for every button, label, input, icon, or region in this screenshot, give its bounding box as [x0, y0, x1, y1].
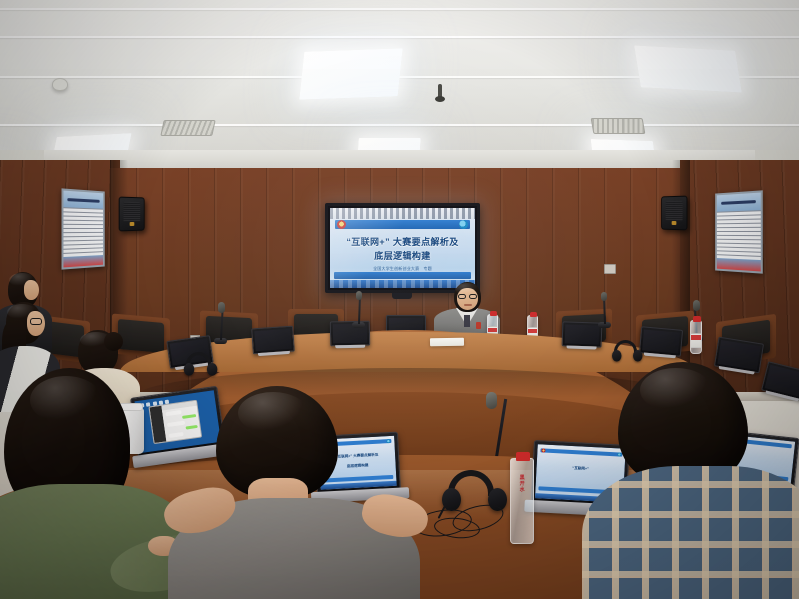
microphone-head [218, 302, 225, 313]
presenter-mouth [464, 304, 472, 306]
poster-right [715, 190, 763, 273]
smoke-detector-icon [52, 78, 68, 91]
person-hair-bun [104, 332, 123, 351]
slide-title-line1: “互联网+” 大赛要点解析及 [336, 236, 469, 248]
front-right-attendee [596, 362, 799, 599]
slide-title-line2: 底层逻辑构建 [336, 250, 469, 262]
slide-footer-bar [334, 272, 471, 279]
poster-text-body [63, 207, 103, 256]
poster-header [63, 191, 103, 209]
competition-logo-icon [459, 220, 468, 229]
presenter-glasses [458, 294, 466, 299]
sprinkler-head-icon [438, 84, 442, 100]
presentation-slide: “互联网+” 大赛要点解析及 底层逻辑构建 全国大学生创新创业大赛 专题 [330, 208, 475, 288]
school-emblem-icon [337, 220, 346, 229]
presenter-tie [464, 315, 470, 327]
screen-mount [392, 293, 412, 299]
microphone-head [693, 300, 700, 311]
front-center-attendee [186, 386, 416, 599]
person-glasses [30, 318, 42, 325]
flip-up-monitor [639, 326, 683, 357]
powerpoint-toolbar[interactable] [330, 208, 475, 219]
ceiling-light [299, 48, 402, 99]
air-vent [591, 118, 646, 134]
wall-speaker-left [119, 197, 145, 232]
poster-footer [63, 255, 103, 268]
bottle-label-text: 黑 开 水 [511, 475, 533, 493]
poster-header [717, 193, 761, 212]
person-torso [582, 466, 799, 599]
presenter-badge [476, 322, 481, 329]
ceiling-light [634, 45, 742, 92]
projection-screen: “互联网+” 大赛要点解析及 底层逻辑构建 全国大学生创新创业大赛 专题 [325, 203, 480, 293]
wall-speaker-right [661, 196, 687, 231]
microphone-head [486, 392, 497, 409]
microphone-head [356, 291, 362, 300]
water-bottle [690, 320, 702, 354]
poster-left [62, 188, 105, 269]
poster-text-body [717, 210, 761, 261]
paper-sheet [430, 338, 464, 347]
slide-title: “互联网+” 大赛要点解析及 底层逻辑构建 [336, 236, 469, 262]
presenter-glasses [469, 294, 477, 299]
slide-header-bar [335, 220, 470, 229]
conference-room-photo: “互联网+” 大赛要点解析及 底层逻辑构建 全国大学生创新创业大赛 专题 [0, 0, 799, 599]
flip-up-monitor [251, 326, 295, 355]
flip-up-monitor [562, 321, 603, 347]
poster-footer [717, 258, 761, 271]
air-vent [160, 120, 215, 136]
water-bottle-foreground: 黑 开 水 [510, 458, 534, 544]
microphone-head [601, 292, 607, 301]
wall-outlet [604, 264, 616, 274]
